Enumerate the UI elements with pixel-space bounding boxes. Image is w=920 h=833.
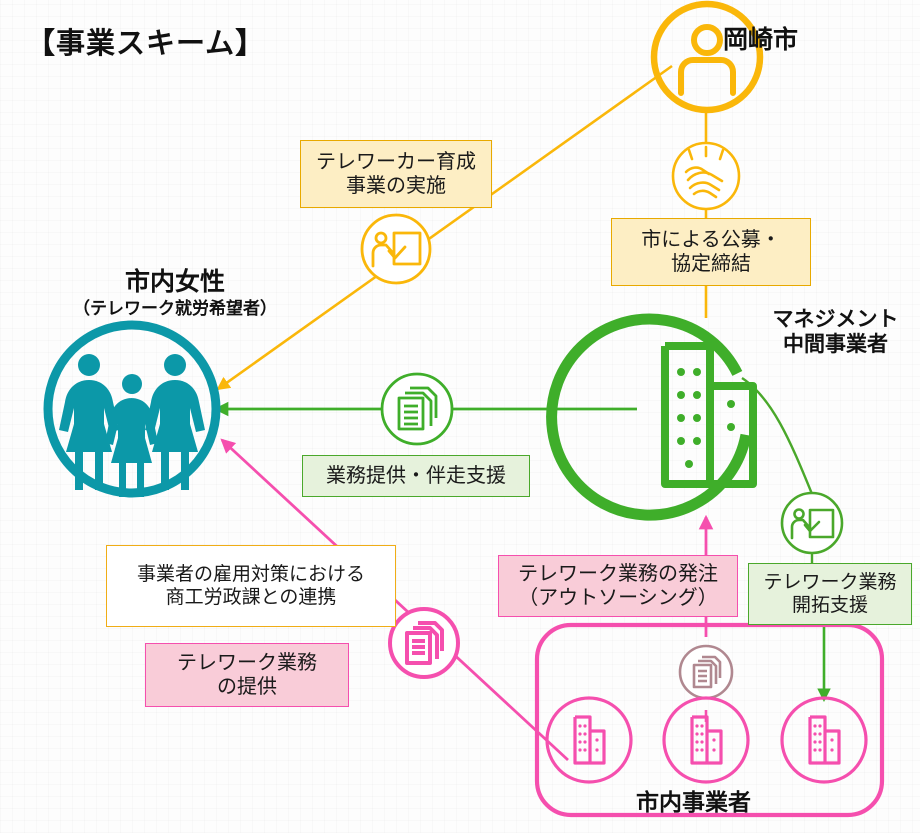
page-title: 【事業スキーム】 bbox=[26, 20, 265, 62]
local-business-1 bbox=[547, 698, 631, 782]
management-label-line2: 中間事業者 bbox=[783, 333, 888, 356]
documents-icon-green-circle bbox=[382, 374, 452, 444]
management-label: マネジメント 中間事業者 bbox=[748, 308, 920, 358]
label-renkei-line2: 商工労政課との連携 bbox=[166, 587, 337, 608]
women-label-sub: （テレワーク就労希望者） bbox=[60, 299, 290, 319]
management-circle bbox=[539, 307, 755, 528]
label-support: 業務提供・伴走支援 bbox=[302, 455, 530, 497]
local-businesses-label: 市内事業者 bbox=[636, 789, 751, 816]
okazaki-label: 岡崎市 bbox=[723, 26, 798, 56]
label-kaitaku-line2: 開拓支援 bbox=[792, 595, 868, 616]
label-koubo: 市による公募・ 協定締結 bbox=[611, 218, 811, 286]
connector-layer bbox=[0, 0, 920, 833]
label-hacchu: テレワーク業務の発注 （アウトソーシング） bbox=[498, 555, 738, 617]
label-hacchu-line1: テレワーク業務の発注 bbox=[518, 563, 718, 585]
label-training: テレワーカー育成 事業の実施 bbox=[300, 140, 492, 208]
label-training-line1: テレワーカー育成 bbox=[316, 151, 476, 173]
label-teikyo: テレワーク業務 の提供 bbox=[145, 643, 349, 707]
label-kaitaku-line1: テレワーク業務 bbox=[763, 572, 896, 593]
label-support-line1: 業務提供・伴走支援 bbox=[326, 464, 506, 488]
management-label-line1: マネジメント bbox=[773, 308, 899, 331]
label-kaitaku: テレワーク業務 開拓支援 bbox=[748, 563, 912, 625]
diagram-canvas: 【事業スキーム】 岡崎市 市内女性 （テレワーク就労希望者） マネジメント 中間… bbox=[0, 0, 920, 833]
label-training-line2: 事業の実施 bbox=[346, 175, 446, 197]
label-teikyo-line1: テレワーク業務 bbox=[177, 652, 317, 674]
label-koubo-line2: 協定締結 bbox=[671, 253, 751, 275]
label-teikyo-line2: の提供 bbox=[217, 676, 277, 698]
label-renkei-line1: 事業者の雇用対策における bbox=[137, 564, 365, 585]
local-business-3 bbox=[782, 698, 866, 782]
three-women-icon bbox=[59, 354, 205, 497]
edge-okazaki-to-women bbox=[218, 66, 672, 389]
women-label-main: 市内女性 bbox=[125, 268, 225, 296]
women-label: 市内女性 （テレワーク就労希望者） bbox=[60, 268, 290, 319]
label-hacchu-line2: （アウトソーシング） bbox=[518, 587, 718, 609]
label-koubo-line1: 市による公募・ bbox=[641, 229, 780, 251]
label-renkei: 事業者の雇用対策における 商工労政課との連携 bbox=[106, 545, 396, 627]
